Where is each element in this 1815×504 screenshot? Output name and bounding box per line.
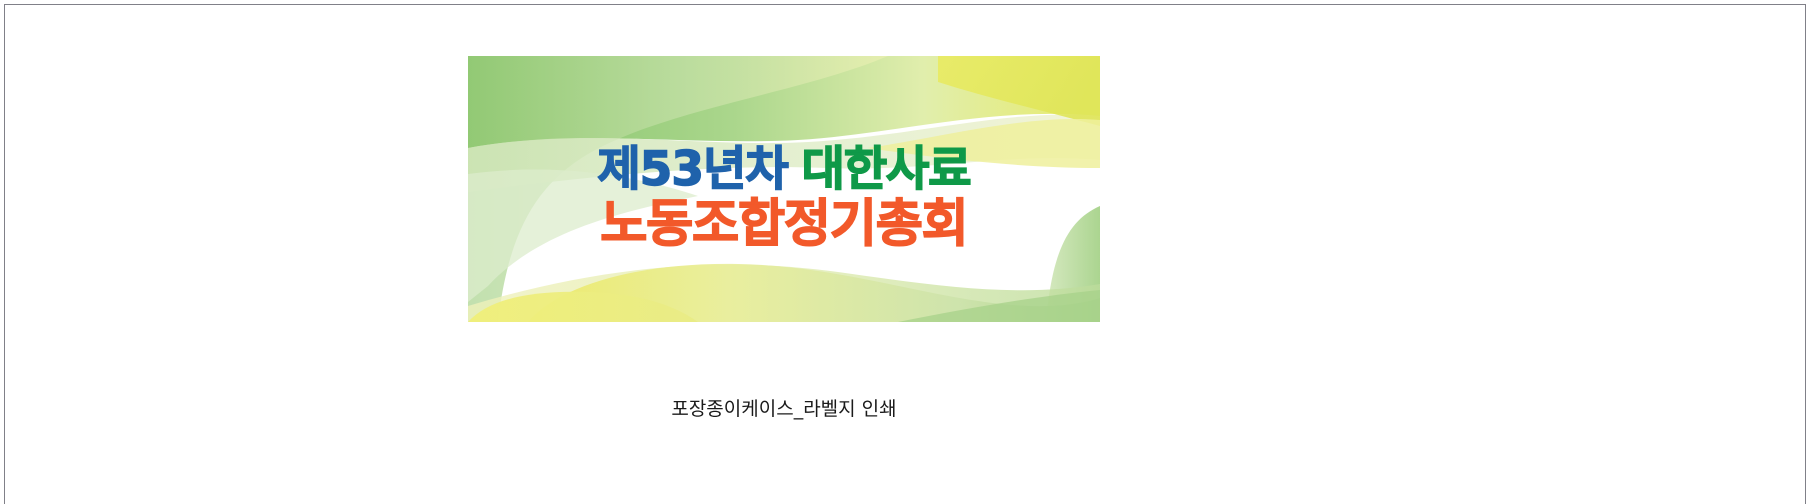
headline-segment-event: 노동조합정기총회 <box>600 199 967 250</box>
banner-headline: 제53년차 대한사료 노동조합정기총회 <box>468 56 1100 322</box>
headline-line-2: 노동조합정기총회 <box>600 199 967 250</box>
headline-line-1: 제53년차 대한사료 <box>597 146 970 193</box>
headline-segment-company: 대한사료 <box>802 146 971 193</box>
banner-image[interactable]: 제53년차 대한사료 노동조합정기총회 <box>468 56 1100 322</box>
product-item[interactable]: 제53년차 대한사료 노동조합정기총회 포장종이케이스_라벨지 인쇄 <box>468 56 1100 436</box>
page-canvas: 제53년차 대한사료 노동조합정기총회 포장종이케이스_라벨지 인쇄 <box>0 0 1815 483</box>
headline-segment-year: 제53년차 <box>597 146 787 193</box>
product-caption: 포장종이케이스_라벨지 인쇄 <box>468 394 1100 421</box>
